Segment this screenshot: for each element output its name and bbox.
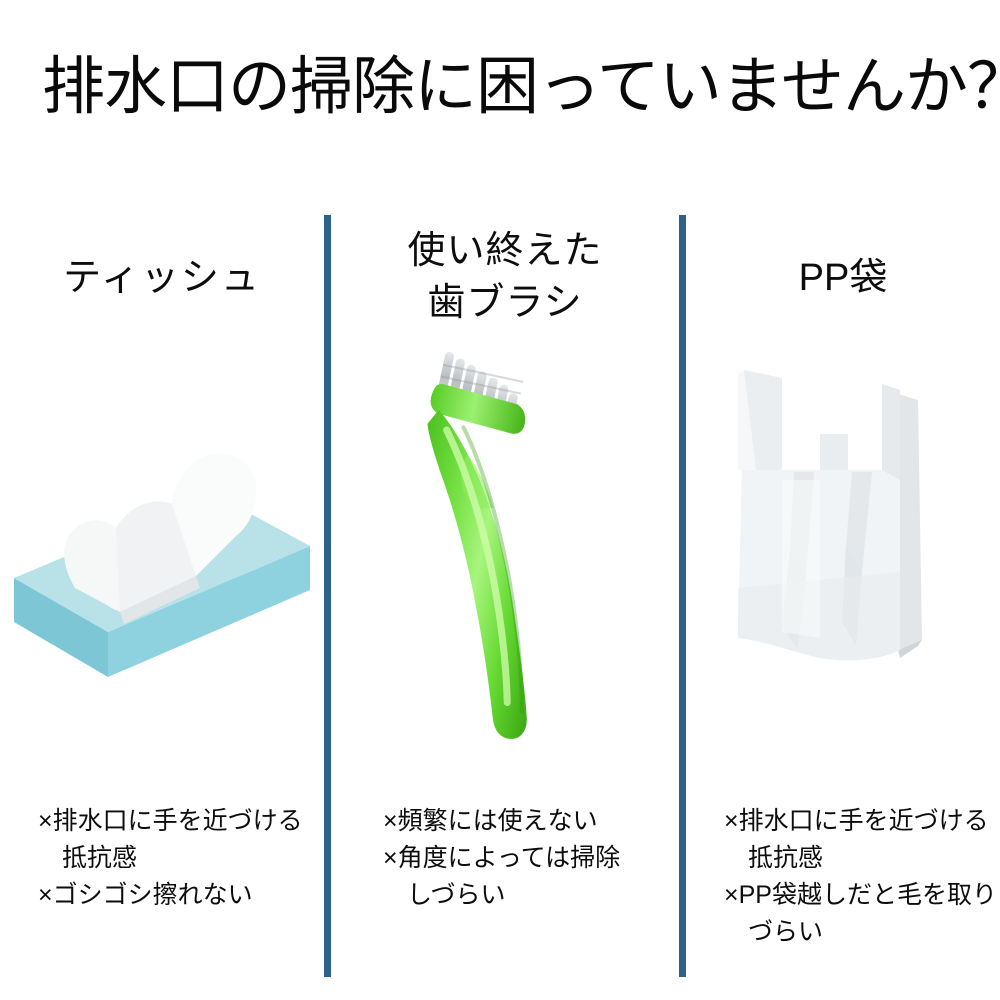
- bullet-list-toothbrush: ×頻繁には使えない ×角度によっては掃除 しづらい: [383, 803, 683, 914]
- bullet-continuation: 抵抗感: [724, 840, 1000, 877]
- bullet-list-pp-bag: ×排水口に手を近づける 抵抗感 ×PP袋越しだと毛を取り づらい: [724, 803, 1000, 951]
- column-heading-tissue: ティッシュ: [0, 252, 324, 304]
- heading-line-2: 歯ブラシ: [331, 277, 679, 329]
- infographic-canvas: 排水口の掃除に困っていませんか？ ティッシュ: [0, 0, 1000, 1000]
- column-heading-toothbrush: 使い終えた 歯ブラシ: [331, 225, 679, 329]
- used-toothbrush-illustration: [331, 350, 679, 750]
- column-heading-pp-bag: PP袋: [686, 252, 1000, 304]
- bullet-continuation: 抵抗感: [38, 840, 328, 877]
- bullet-continuation: づらい: [724, 914, 1000, 951]
- heading-line-1: 使い終えた: [331, 225, 679, 277]
- toothbrush-body: [365, 350, 599, 742]
- plastic-pp-bag-illustration: [686, 350, 1000, 690]
- bullet-continuation: しづらい: [383, 877, 683, 914]
- bullet-line: ×頻繁には使えない: [383, 807, 598, 835]
- bullet-item: ×排水口に手を近づける 抵抗感: [38, 803, 328, 877]
- bullet-item: ×ゴシゴシ擦れない: [38, 877, 328, 914]
- column-tissue: ティッシュ: [0, 0, 324, 1000]
- bullet-item: ×角度によっては掃除 しづらい: [383, 840, 683, 914]
- bullet-line: ×角度によっては掃除: [383, 844, 620, 872]
- bullet-item: ×排水口に手を近づける 抵抗感: [724, 803, 1000, 877]
- bullet-item: ×頻繁には使えない: [383, 803, 683, 840]
- pp-bag-shape: [738, 370, 922, 660]
- bullet-line: ×排水口に手を近づける: [38, 807, 303, 835]
- bullet-line: ×排水口に手を近づける: [724, 807, 989, 835]
- tissue-box-illustration: [0, 400, 324, 680]
- bullet-list-tissue: ×排水口に手を近づける 抵抗感 ×ゴシゴシ擦れない: [38, 803, 328, 914]
- column-pp-bag: PP袋: [686, 0, 1000, 1000]
- bullet-item: ×PP袋越しだと毛を取り づらい: [724, 877, 1000, 951]
- bullet-line: ×PP袋越しだと毛を取り: [724, 881, 997, 909]
- bullet-line: ×ゴシゴシ擦れない: [38, 881, 253, 909]
- column-toothbrush: 使い終えた 歯ブラシ: [331, 0, 679, 1000]
